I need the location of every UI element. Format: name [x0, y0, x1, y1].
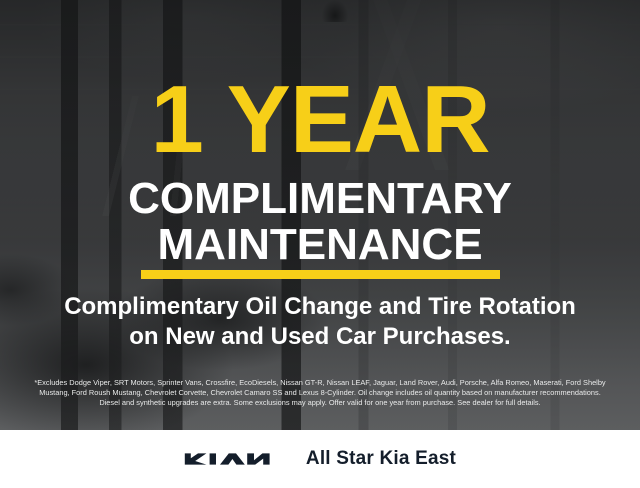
offer-description-line-1: Complimentary Oil Change and Tire Rotati… — [0, 292, 640, 322]
offer-description-line-2: on New and Used Car Purchases. — [0, 322, 640, 352]
yellow-divider-rule — [141, 270, 500, 279]
headline-year: 1 YEAR — [0, 72, 640, 168]
kia-logo — [184, 448, 280, 470]
headline-maintenance: MAINTENANCE — [0, 222, 640, 268]
dealer-name: All Star Kia East — [306, 448, 456, 470]
disclaimer-text: *Excludes Dodge Viper, SRT Motors, Sprin… — [14, 378, 626, 408]
promo-banner: 1 YEAR COMPLIMENTARY MAINTENANCE Complim… — [0, 0, 640, 488]
disclaimer-line-3: Diesel and synthetic upgrades are extra.… — [14, 398, 626, 408]
banner-content: 1 YEAR COMPLIMENTARY MAINTENANCE Complim… — [0, 0, 640, 488]
headline-complimentary: COMPLIMENTARY — [0, 176, 640, 222]
banner-footer: All Star Kia East — [0, 430, 640, 488]
disclaimer-line-1: *Excludes Dodge Viper, SRT Motors, Sprin… — [14, 378, 626, 388]
disclaimer-line-2: Mustang, Ford Roush Mustang, Chevrolet C… — [14, 388, 626, 398]
